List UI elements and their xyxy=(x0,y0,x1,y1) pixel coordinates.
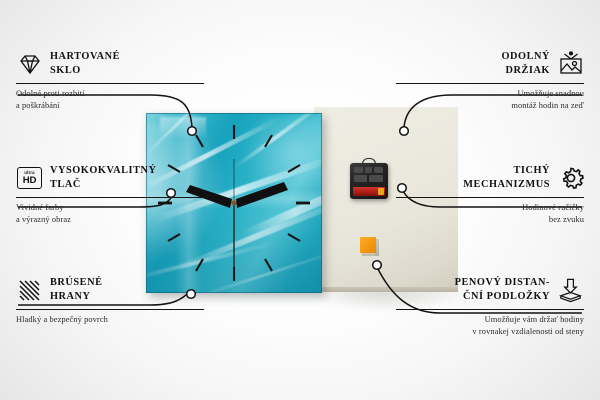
feature-underline xyxy=(396,83,584,84)
feature-description: Umožňuje snadnou montáž hodin na zeď xyxy=(396,88,584,110)
feature-header: PENOVÝ DISTAN- ČNÍ PODLOŽKY xyxy=(396,276,584,304)
feature-brushed-edges: BRÚSENÉ HRANY Hladký a bezpečný povrch xyxy=(16,276,204,326)
foam-pad-press-icon xyxy=(557,277,584,304)
mechanism-detail xyxy=(369,175,383,182)
feature-desc-line2: bez zvuku xyxy=(549,215,584,224)
feature-description: Vividné farby a výrazný obraz xyxy=(16,202,204,224)
feature-title: HARTOVANÉ SKLO xyxy=(50,50,120,78)
feature-description: Odolné proti rozbití a poškrábání xyxy=(16,88,204,110)
feature-description: Umožňuje vám držať hodiny v rovnakej vzd… xyxy=(396,314,584,336)
feature-underline xyxy=(16,197,204,198)
feature-header: HARTOVANÉ SKLO xyxy=(16,50,204,78)
feature-desc-line2: v rovnakej vzdialenosti od steny xyxy=(472,327,584,336)
clock-center-cap xyxy=(231,200,236,205)
mechanism-detail xyxy=(354,175,367,182)
feature-desc-line1: Umožňuje snadnou xyxy=(518,89,585,98)
feature-high-quality-print: ultra HD VYSOKOKVALITNÝ TLAČ Vividné far… xyxy=(16,164,204,225)
clock-minute-hand xyxy=(236,182,288,208)
ultra-hd-icon: ultra HD xyxy=(16,165,43,192)
feature-title-line2: SKLO xyxy=(50,65,81,76)
brushed-edge-icon xyxy=(16,277,43,304)
feature-hardened-glass: HARTOVANÉ SKLO Odolné proti rozbití a po… xyxy=(16,50,204,111)
feature-title-line1: TICHÝ xyxy=(513,165,550,176)
feature-header: ultra HD VYSOKOKVALITNÝ TLAČ xyxy=(16,164,204,192)
feature-desc-line2: a výrazný obraz xyxy=(16,215,71,224)
mechanism-body xyxy=(350,163,388,199)
feature-title-line2: MECHANIZMUS xyxy=(463,179,550,190)
feature-desc-line2: montáž hodin na zeď xyxy=(511,101,584,110)
feature-desc-line1: Vividné farby xyxy=(16,203,64,212)
mechanism-detail xyxy=(365,167,372,173)
feature-title: ODOLNÝ DRŽIAK xyxy=(502,50,551,78)
infographic-canvas: HARTOVANÉ SKLO Odolné proti rozbití a po… xyxy=(0,0,600,400)
diamond-icon xyxy=(16,51,43,78)
feature-description: Hladký a bezpečný povrch xyxy=(16,314,204,325)
feature-underline xyxy=(16,309,204,310)
feature-desc-line1: Odolné proti rozbití xyxy=(16,89,85,98)
feature-title-line2: ČNÍ PODLOŽKY xyxy=(463,291,550,302)
feature-desc-line1: Hodinové ručičky xyxy=(522,203,584,212)
feature-header: ODOLNÝ DRŽIAK xyxy=(396,50,584,78)
feature-title-line2: TLAČ xyxy=(50,179,81,190)
feature-header: TICHÝ MECHANIZMUS xyxy=(396,164,584,192)
battery-positive-terminal xyxy=(378,188,384,195)
feature-title-line2: HRANY xyxy=(50,291,91,302)
picture-frame-hanger-icon xyxy=(557,51,584,78)
foam-pad-top xyxy=(360,237,376,253)
foam-spacer-pad xyxy=(360,237,379,256)
feature-foam-spacers: PENOVÝ DISTAN- ČNÍ PODLOŽKY Umožňuje vám… xyxy=(396,276,584,337)
feature-title-line1: ODOLNÝ xyxy=(502,51,551,62)
feature-silent-mechanism: TICHÝ MECHANIZMUS Hodinové ručičky bez z… xyxy=(396,164,584,225)
feature-title-line1: BRÚSENÉ xyxy=(50,277,103,288)
feature-underline xyxy=(396,309,584,310)
ultra-hd-icon-big-label: HD xyxy=(23,176,36,186)
feature-header: BRÚSENÉ HRANY xyxy=(16,276,204,304)
feature-underline xyxy=(396,197,584,198)
feature-title: PENOVÝ DISTAN- ČNÍ PODLOŽKY xyxy=(455,276,550,304)
feature-durable-holder: ODOLNÝ DRŽIAK Umožňuje snadnou montáž ho… xyxy=(396,50,584,111)
feature-title: BRÚSENÉ HRANY xyxy=(50,276,103,304)
clock-mechanism xyxy=(350,163,388,199)
feature-desc-line2: a poškrábání xyxy=(16,101,60,110)
feature-underline xyxy=(16,83,204,84)
feature-title-line1: PENOVÝ DISTAN- xyxy=(455,277,550,288)
feature-title-line1: VYSOKOKVALITNÝ xyxy=(50,165,157,176)
feature-desc-line1: Hladký a bezpečný povrch xyxy=(16,315,108,324)
feature-title: TICHÝ MECHANIZMUS xyxy=(463,164,550,192)
feature-desc-line1: Umožňuje vám držať hodiny xyxy=(485,315,584,324)
feature-title: VYSOKOKVALITNÝ TLAČ xyxy=(50,164,157,192)
mechanism-detail xyxy=(354,167,363,173)
mechanism-battery xyxy=(353,187,385,196)
gear-icon xyxy=(557,165,584,192)
feature-title-line2: DRŽIAK xyxy=(506,65,551,76)
mechanism-detail xyxy=(374,167,383,173)
feature-description: Hodinové ručičky bez zvuku xyxy=(396,202,584,224)
feature-title-line1: HARTOVANÉ xyxy=(50,51,120,62)
